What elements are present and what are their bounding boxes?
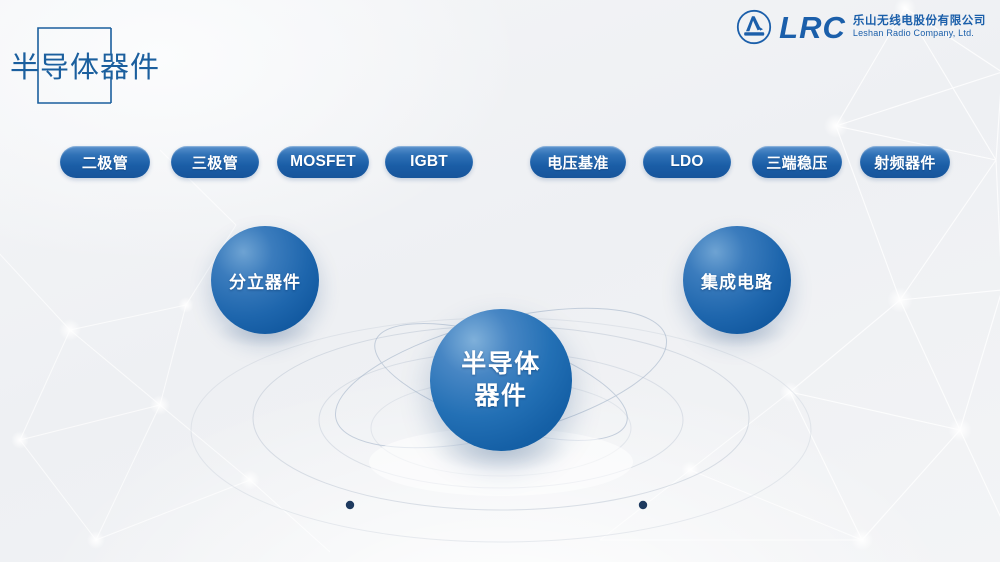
pill-discrete-3[interactable]: IGBT (385, 146, 473, 178)
node-center-label-line2: 器件 (474, 382, 527, 410)
pill-integrated-circuit-0[interactable]: 电压基准 (530, 146, 626, 178)
pill-discrete-0[interactable]: 二极管 (60, 146, 150, 178)
company-logo: LRC 乐山无线电股份有限公司 Leshan Radio Company, Lt… (736, 9, 986, 45)
pill-discrete-2[interactable]: MOSFET (277, 146, 369, 178)
pill-label: 三极管 (192, 152, 238, 173)
logo-company-names: 乐山无线电股份有限公司 Leshan Radio Company, Ltd. (853, 16, 986, 39)
node-ic-label: 集成电路 (701, 268, 773, 293)
pill-label: LDO (670, 153, 703, 171)
node-semiconductor-devices[interactable]: 半导体 器件 (430, 309, 572, 451)
logo-company-en: Leshan Radio Company, Ltd. (853, 29, 986, 38)
logo-wordmark: LRC (779, 12, 846, 43)
pill-label: 三端稳压 (766, 152, 828, 173)
pill-integrated-circuit-3[interactable]: 射频器件 (860, 146, 950, 178)
pill-label: MOSFET (290, 153, 356, 171)
logo-company-cn: 乐山无线电股份有限公司 (853, 16, 986, 28)
pill-label: 电压基准 (547, 152, 609, 173)
pill-integrated-circuit-1[interactable]: LDO (643, 146, 731, 178)
slide-canvas: 半导体器件 LRC 乐山无线电股份有限公司 Leshan Radio Compa… (0, 0, 1000, 562)
pill-discrete-1[interactable]: 三极管 (171, 146, 259, 178)
pill-label: IGBT (410, 153, 448, 171)
node-center-label: 半导体 器件 (461, 348, 541, 412)
lrc-emblem-icon (736, 9, 772, 45)
node-integrated-circuit[interactable]: 集成电路 (683, 226, 791, 334)
pill-label: 二极管 (82, 152, 128, 173)
page-title: 半导体器件 (10, 44, 160, 86)
pill-integrated-circuit-2[interactable]: 三端稳压 (752, 146, 842, 178)
node-center-label-line1: 半导体 (461, 350, 541, 378)
node-discrete-devices[interactable]: 分立器件 (211, 226, 319, 334)
node-discrete-label: 分立器件 (229, 268, 301, 293)
pill-label: 射频器件 (874, 152, 936, 173)
